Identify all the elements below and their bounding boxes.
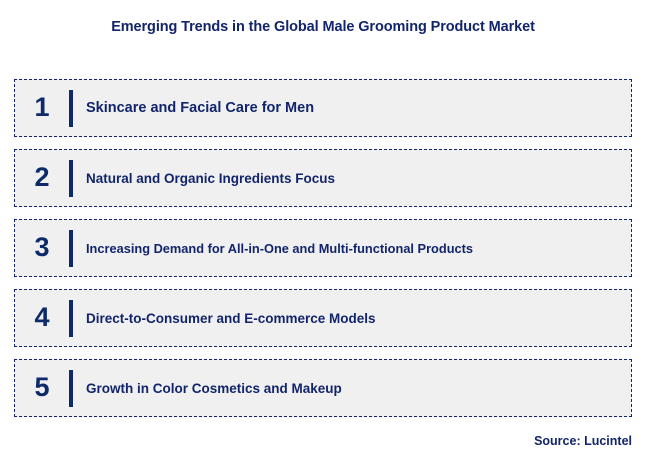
- trend-rank-number: 4: [15, 304, 69, 333]
- trend-row: 2 Natural and Organic Ingredients Focus: [14, 149, 632, 207]
- emerging-trends-infographic: Emerging Trends in the Global Male Groom…: [0, 0, 646, 466]
- trend-label: Direct-to-Consumer and E-commerce Models: [73, 311, 631, 326]
- trend-row: 1 Skincare and Facial Care for Men: [14, 79, 632, 137]
- page-title: Emerging Trends in the Global Male Groom…: [0, 19, 646, 35]
- trend-row: 3 Increasing Demand for All-in-One and M…: [14, 219, 632, 277]
- trend-label: Skincare and Facial Care for Men: [73, 100, 631, 116]
- source-attribution: Source: Lucintel: [534, 434, 632, 448]
- trend-label: Increasing Demand for All-in-One and Mul…: [73, 241, 631, 256]
- trend-rank-number: 3: [15, 234, 69, 263]
- trend-list: 1 Skincare and Facial Care for Men 2 Nat…: [14, 79, 632, 417]
- trend-label: Natural and Organic Ingredients Focus: [73, 171, 631, 186]
- trend-label: Growth in Color Cosmetics and Makeup: [73, 381, 631, 396]
- trend-rank-number: 5: [15, 374, 69, 403]
- trend-rank-number: 2: [15, 164, 69, 193]
- trend-rank-number: 1: [15, 94, 69, 123]
- trend-row: 4 Direct-to-Consumer and E-commerce Mode…: [14, 289, 632, 347]
- trend-row: 5 Growth in Color Cosmetics and Makeup: [14, 359, 632, 417]
